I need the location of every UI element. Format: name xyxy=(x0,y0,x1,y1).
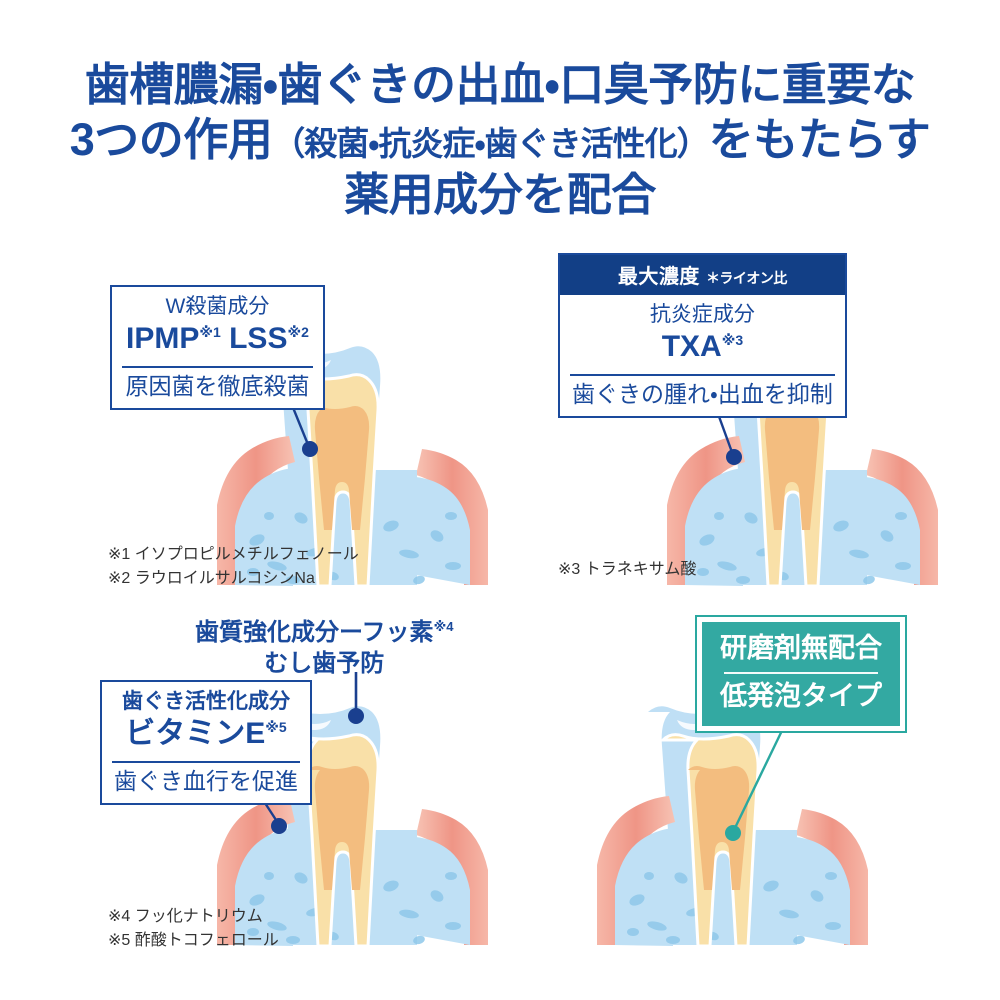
header-label: 最大濃度 xyxy=(618,266,700,288)
panel-antiinflammatory: 最大濃度 ＊ライオン比 抗炎症成分 TXA※3 歯ぐきの腫れ・出血を抑制 ※3 … xyxy=(540,245,950,605)
mark-5: ※5 xyxy=(265,719,286,735)
panel-sterilize: W殺菌成分 IPMP※1 LSS※2 原因菌を徹底殺菌 ※1 イソプロピルメチル… xyxy=(90,245,500,605)
footnote-4: ※4 フッ化ナトリウム xyxy=(108,905,279,929)
callout-vitamin-e-top: 歯ぐき活性化成分 ビタミンE※5 xyxy=(102,682,310,756)
header-note: ＊ライオン比 xyxy=(706,270,787,286)
callout-no-abrasive[interactable]: 研磨剤無配合 低発泡タイプ xyxy=(695,615,907,733)
footnote-3: ※3 トラネキサム酸 xyxy=(558,558,696,582)
callout-fluoride[interactable]: 歯質強化成分ーフッ素※4 むし歯予防 xyxy=(195,617,453,679)
callout-max-concentration-header: 最大濃度 ＊ライオン比 xyxy=(560,255,845,295)
page-title: 歯槽膿漏・歯ぐきの出血・口臭予防に重要な 3つの作用（殺菌・抗炎症・歯ぐき活性化… xyxy=(0,58,1000,223)
panel-fluoride-vitamin: 歯質強化成分ーフッ素※4 むし歯予防 歯ぐき活性化成分 ビタミンE※5 歯ぐき血… xyxy=(90,605,500,965)
callout-sterilize[interactable]: W殺菌成分 IPMP※1 LSS※2 原因菌を徹底殺菌 xyxy=(110,285,325,410)
mark-3: ※3 xyxy=(722,332,743,348)
callout-vitamin-e-main: ビタミンE※5 xyxy=(116,716,296,752)
callout-antiinflammatory[interactable]: 最大濃度 ＊ライオン比 抗炎症成分 TXA※3 歯ぐきの腫れ・出血を抑制 xyxy=(558,253,847,418)
footnotes-top-left: ※1 イソプロピルメチルフェノール ※2 ラウロイルサルコシンNa xyxy=(108,543,359,591)
callout-antiinflammatory-main: TXA※3 xyxy=(574,329,831,365)
footnotes-top-right: ※3 トラネキサム酸 xyxy=(558,558,696,582)
callout-vitamin-e[interactable]: 歯ぐき活性化成分 ビタミンE※5 歯ぐき血行を促進 xyxy=(100,680,312,805)
ingredient-ipmp: IPMP xyxy=(126,322,199,355)
callout-vitamin-e-bottom: 歯ぐき血行を促進 xyxy=(102,763,310,803)
tooth-illustration-bottom-right xyxy=(585,700,880,970)
fluoride-line-1: 歯質強化成分ーフッ素※4 xyxy=(195,617,453,648)
panel-no-abrasive: 研磨剤無配合 低発泡タイプ xyxy=(540,605,950,965)
footnote-1: ※1 イソプロピルメチルフェノール xyxy=(108,543,359,567)
no-abrasive-line-1: 研磨剤無配合 xyxy=(720,632,882,666)
ingredient-txa: TXA xyxy=(662,330,722,363)
callout-sterilize-top: W殺菌成分 IPMP※1 LSS※2 xyxy=(112,287,323,361)
callout-antiinflammatory-sub: 抗炎症成分 xyxy=(574,302,831,328)
callout-vitamin-e-sub: 歯ぐき活性化成分 xyxy=(116,689,296,715)
footnote-2: ※2 ラウロイルサルコシンNa xyxy=(108,567,359,591)
callout-sterilize-sub: W殺菌成分 xyxy=(126,294,309,320)
mark-4: ※4 xyxy=(434,619,454,634)
headline-line-2: 3つの作用（殺菌・抗炎症・歯ぐき活性化）をもたらす xyxy=(0,113,1000,168)
footnote-5: ※5 酢酸トコフェロール xyxy=(108,929,279,953)
headline-line-2a: 3つの作用 xyxy=(70,114,273,165)
footnotes-bottom-left: ※4 フッ化ナトリウム ※5 酢酸トコフェロール xyxy=(108,905,279,953)
headline-line-2b: （殺菌・抗炎症・歯ぐき活性化） xyxy=(272,125,708,162)
fluoride-line-2: むし歯予防 xyxy=(195,648,453,679)
mark-2: ※2 xyxy=(287,324,308,340)
ingredient-lss: LSS xyxy=(229,322,287,355)
headline-line-3: 薬用成分を配合 xyxy=(0,168,1000,223)
infographic-canvas: 歯槽膿漏・歯ぐきの出血・口臭予防に重要な 3つの作用（殺菌・抗炎症・歯ぐき活性化… xyxy=(0,0,1000,1000)
callout-sterilize-bottom: 原因菌を徹底殺菌 xyxy=(112,368,323,408)
callout-antiinflammatory-bottom: 歯ぐきの腫れ・出血を抑制 xyxy=(560,376,845,416)
callout-divider xyxy=(724,672,878,674)
fluoride-text: 歯質強化成分ーフッ素 xyxy=(195,619,434,646)
callout-antiinflammatory-top: 抗炎症成分 TXA※3 xyxy=(560,295,845,369)
headline-line-2c: をもたらす xyxy=(709,114,931,165)
callout-no-abrasive-inner: 研磨剤無配合 低発泡タイプ xyxy=(702,622,900,726)
callout-sterilize-main: IPMP※1 LSS※2 xyxy=(126,321,309,357)
no-abrasive-line-2: 低発泡タイプ xyxy=(720,680,882,714)
ingredient-vitamin-e: ビタミンE xyxy=(125,717,265,750)
mark-1: ※1 xyxy=(199,324,220,340)
headline-line-1: 歯槽膿漏・歯ぐきの出血・口臭予防に重要な xyxy=(0,58,1000,113)
